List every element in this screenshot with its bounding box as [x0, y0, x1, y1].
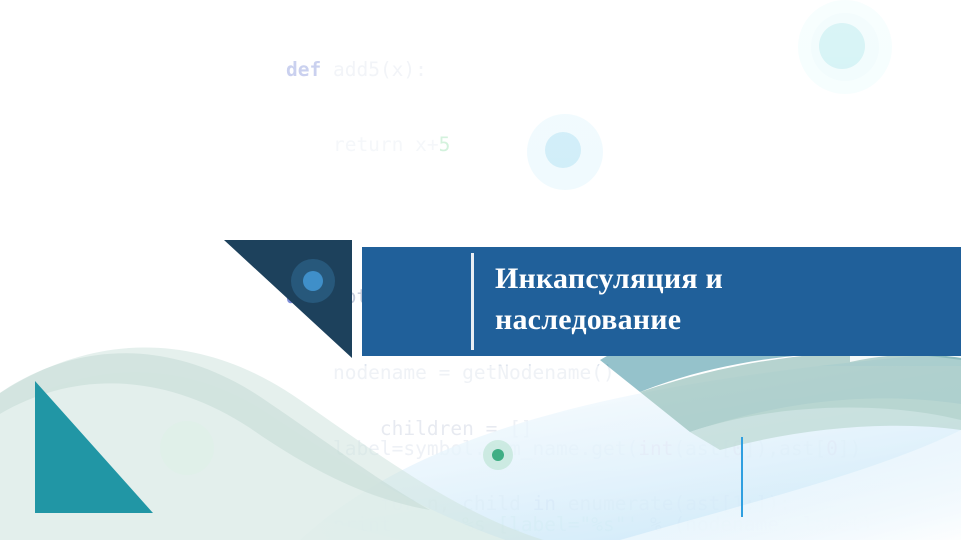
text-cursor[interactable] — [741, 437, 743, 517]
code-line: return x+5 — [286, 132, 961, 157]
code-line: for n, child in enumerate(ast[1:]): — [286, 491, 961, 516]
title-line-2: наследование — [495, 299, 925, 340]
code-line — [286, 208, 961, 233]
title-line-1: Инкапсуляция и — [495, 258, 925, 299]
title-divider — [471, 253, 474, 350]
page-title: Инкапсуляция и наследование — [495, 258, 925, 340]
teal-triangle-shape — [35, 381, 153, 513]
teal-triangle — [35, 381, 153, 513]
code-line: children = [] — [286, 416, 961, 441]
navy-triangle-shape — [224, 240, 352, 358]
code-backdrop-bottom: children = [] for n, child in enumerate(… — [286, 365, 961, 540]
navy-triangle-dot — [303, 271, 323, 291]
navy-triangle — [224, 240, 352, 358]
bottom-left-dot — [160, 421, 214, 475]
code-line: def add5(x): — [286, 57, 961, 82]
presentation-slide: def add5(x): return x+5 def dotwrite(ast… — [0, 0, 961, 540]
